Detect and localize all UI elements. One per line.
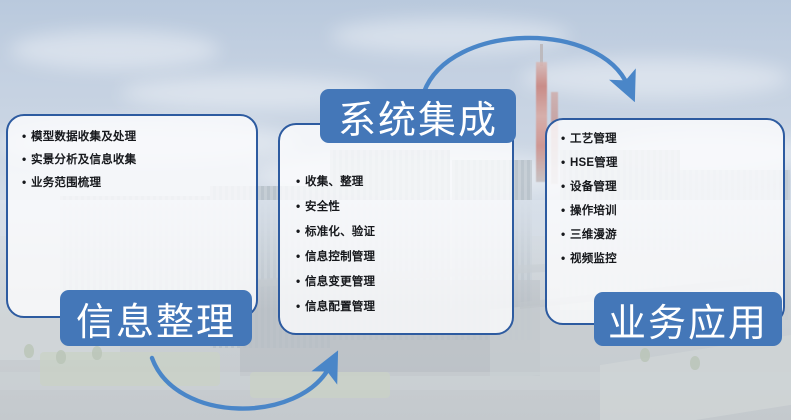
list-item: 视频监控 <box>561 252 783 266</box>
list-item: 信息控制管理 <box>296 250 512 264</box>
list-item: 安全性 <box>296 200 512 214</box>
list-item: 信息配置管理 <box>296 300 512 314</box>
list-item: 工艺管理 <box>561 132 783 146</box>
stage-panel-information-organization[interactable]: 模型数据收集及处理 实景分析及信息收集 业务范围梳理 <box>6 114 258 318</box>
bullet-list: 模型数据收集及处理 实景分析及信息收集 业务范围梳理 <box>8 116 256 190</box>
stage-label-system-integration[interactable]: 系统集成 <box>320 89 516 143</box>
bullet-list: 收集、整理 安全性 标准化、验证 信息控制管理 信息变更管理 信息配置管理 <box>280 125 512 314</box>
stage-label-business-application[interactable]: 业务应用 <box>594 292 782 346</box>
stage-label-information-organization[interactable]: 信息整理 <box>60 290 252 346</box>
list-item: 设备管理 <box>561 180 783 194</box>
list-item: 操作培训 <box>561 204 783 218</box>
list-item: 收集、整理 <box>296 175 512 189</box>
list-item: HSE管理 <box>561 156 783 170</box>
list-item: 信息变更管理 <box>296 275 512 289</box>
list-item: 业务范围梳理 <box>22 176 256 190</box>
arrow-bottom <box>152 358 330 409</box>
list-item: 模型数据收集及处理 <box>22 130 256 144</box>
arrow-top <box>424 38 628 92</box>
list-item: 三维漫游 <box>561 228 783 242</box>
diagram-canvas: 模型数据收集及处理 实景分析及信息收集 业务范围梳理 收集、整理 安全性 标准化… <box>0 0 791 420</box>
stage-panel-system-integration[interactable]: 收集、整理 安全性 标准化、验证 信息控制管理 信息变更管理 信息配置管理 <box>278 123 514 335</box>
bullet-list: 工艺管理 HSE管理 设备管理 操作培训 三维漫游 视频监控 <box>547 120 783 266</box>
list-item: 标准化、验证 <box>296 225 512 239</box>
list-item: 实景分析及信息收集 <box>22 153 256 167</box>
